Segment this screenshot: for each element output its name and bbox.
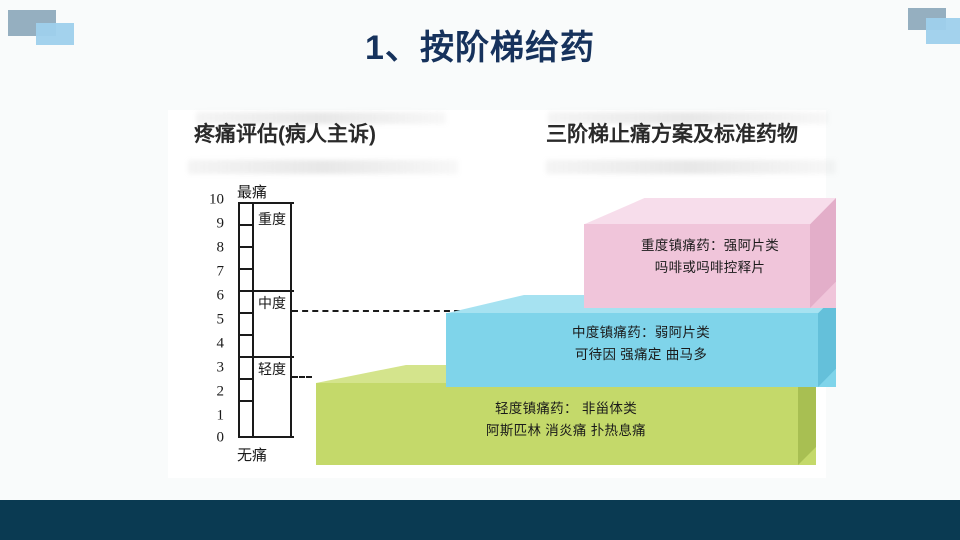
scale-number: 9 [217, 216, 225, 233]
step-block-mild-line1: 轻度镇痛药： 非甾体类 [316, 399, 816, 420]
scale-zone-mild: 轻度 [252, 362, 292, 377]
scale-tick-5 [238, 312, 252, 314]
step-block-moderate-line1: 中度镇痛药：弱阿片类 [446, 323, 836, 344]
scale-bottom-label: 无痛 [212, 444, 292, 465]
step-block-severe: 重度镇痛药：强阿片类 吗啡或吗啡控释片 [584, 198, 836, 308]
scale-tick-7 [238, 268, 252, 270]
scale-number: 0 [217, 430, 225, 447]
diagram-header-right: 三阶梯止痛方案及标准药物 [546, 118, 836, 148]
scale-number: 5 [217, 312, 225, 329]
step-block-moderate-line2: 可待因 强痛定 曲马多 [446, 345, 836, 366]
scale-tick-8 [238, 246, 252, 248]
scale-tick-9 [238, 224, 252, 226]
diagram-header-left: 疼痛评估(病人主诉) [194, 118, 494, 148]
page-title: 1、按阶梯给药 [0, 20, 960, 69]
step-block-severe-line2: 吗啡或吗啡控释片 [584, 258, 836, 279]
scale-box [252, 202, 292, 438]
scale-number: 3 [217, 360, 225, 377]
diagram-panel: 疼痛评估(病人主诉) 三阶梯止痛方案及标准药物 最痛 无痛 10 9 8 7 6… [168, 110, 826, 478]
step-block-severe-line1: 重度镇痛药：强阿片类 [584, 236, 836, 257]
scale-top-label: 最痛 [212, 181, 292, 202]
scale-tick-4 [238, 334, 252, 336]
scale-number: 7 [217, 264, 225, 281]
scale-tick-0 [238, 436, 294, 438]
scale-number: 6 [217, 288, 225, 305]
scale-tick-6 [238, 290, 294, 292]
scale-number: 10 [209, 192, 224, 209]
scale-tick-2 [238, 378, 252, 380]
scale-tick-3 [238, 356, 294, 358]
scale-number: 1 [217, 408, 225, 425]
dashed-connector-level-3 [292, 376, 312, 378]
scale-zone-moderate: 中度 [252, 296, 292, 311]
artifact-smudge [546, 160, 836, 174]
artifact-smudge [188, 160, 458, 174]
scale-tick-10 [238, 202, 294, 204]
footer-band [0, 500, 960, 540]
scale-axis-line [238, 202, 240, 438]
scale-number: 8 [217, 240, 225, 257]
slide: 1、按阶梯给药 疼痛评估(病人主诉) 三阶梯止痛方案及标准药物 最痛 无痛 10… [0, 0, 960, 540]
scale-number: 4 [217, 336, 225, 353]
scale-tick-1 [238, 400, 252, 402]
scale-zone-severe: 重度 [252, 212, 292, 227]
step-block-moderate: 中度镇痛药：弱阿片类 可待因 强痛定 曲马多 [446, 295, 836, 387]
scale-number: 2 [217, 384, 225, 401]
scale-number-list: 10 9 8 7 6 5 4 3 2 1 0 [194, 200, 224, 440]
step-block-mild-line2: 阿斯匹林 消炎痛 扑热息痛 [316, 421, 816, 442]
